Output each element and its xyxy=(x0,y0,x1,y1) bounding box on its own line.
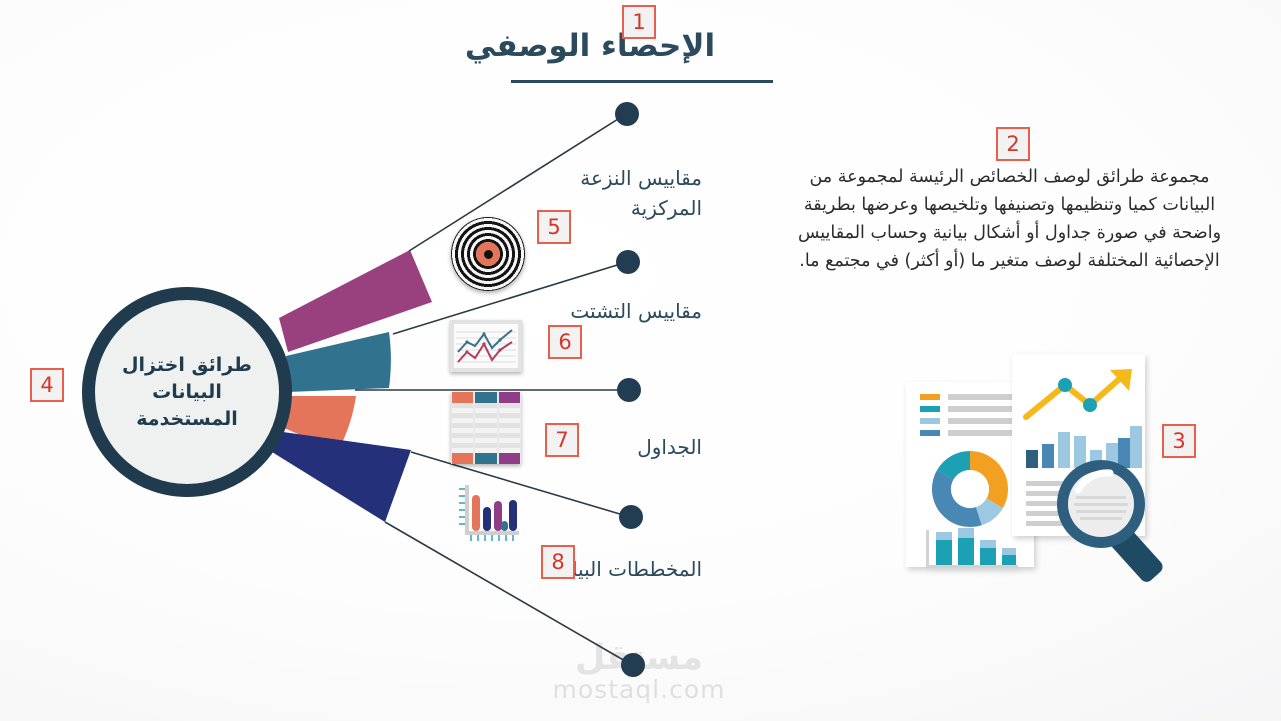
table-column xyxy=(452,392,473,464)
callout-7[interactable]: 7 xyxy=(545,423,579,457)
bullseye-pupil xyxy=(484,250,493,259)
callout-6[interactable]: 6 xyxy=(548,325,582,359)
table-column xyxy=(499,392,520,464)
branch-label-dispersion[interactable]: مقاييس التشتت xyxy=(530,296,702,326)
callout-8[interactable]: 8 xyxy=(541,545,575,579)
hub-label: طرائق اختزال البيانات المستخدمة xyxy=(102,352,272,433)
line-chart-icon xyxy=(450,320,522,372)
slide-canvas: الإحصاء الوصفي 1 2 مجموعة طرائق لوصف الخ… xyxy=(0,0,1281,721)
bullseye-icon xyxy=(451,217,525,291)
hub-circle[interactable]: طرائق اختزال البيانات المستخدمة xyxy=(82,287,292,497)
callout-4[interactable]: 4 xyxy=(30,368,64,402)
bar-chart-icon xyxy=(449,483,523,545)
table-column xyxy=(475,392,496,464)
connector-dot-3 xyxy=(617,378,641,402)
connector-dot-2 xyxy=(616,250,640,274)
callout-1[interactable]: 1 xyxy=(622,5,656,39)
table-icon xyxy=(451,392,521,464)
connector-dot-5 xyxy=(621,653,645,677)
callout-5[interactable]: 5 xyxy=(537,210,571,244)
callout-3[interactable]: 3 xyxy=(1162,424,1196,458)
magnifier-icon xyxy=(1057,460,1165,585)
connector-dot-4 xyxy=(619,505,643,529)
data-analysis-illustration xyxy=(900,350,1200,590)
callout-2[interactable]: 2 xyxy=(996,127,1030,161)
connector-dot-1 xyxy=(615,102,639,126)
